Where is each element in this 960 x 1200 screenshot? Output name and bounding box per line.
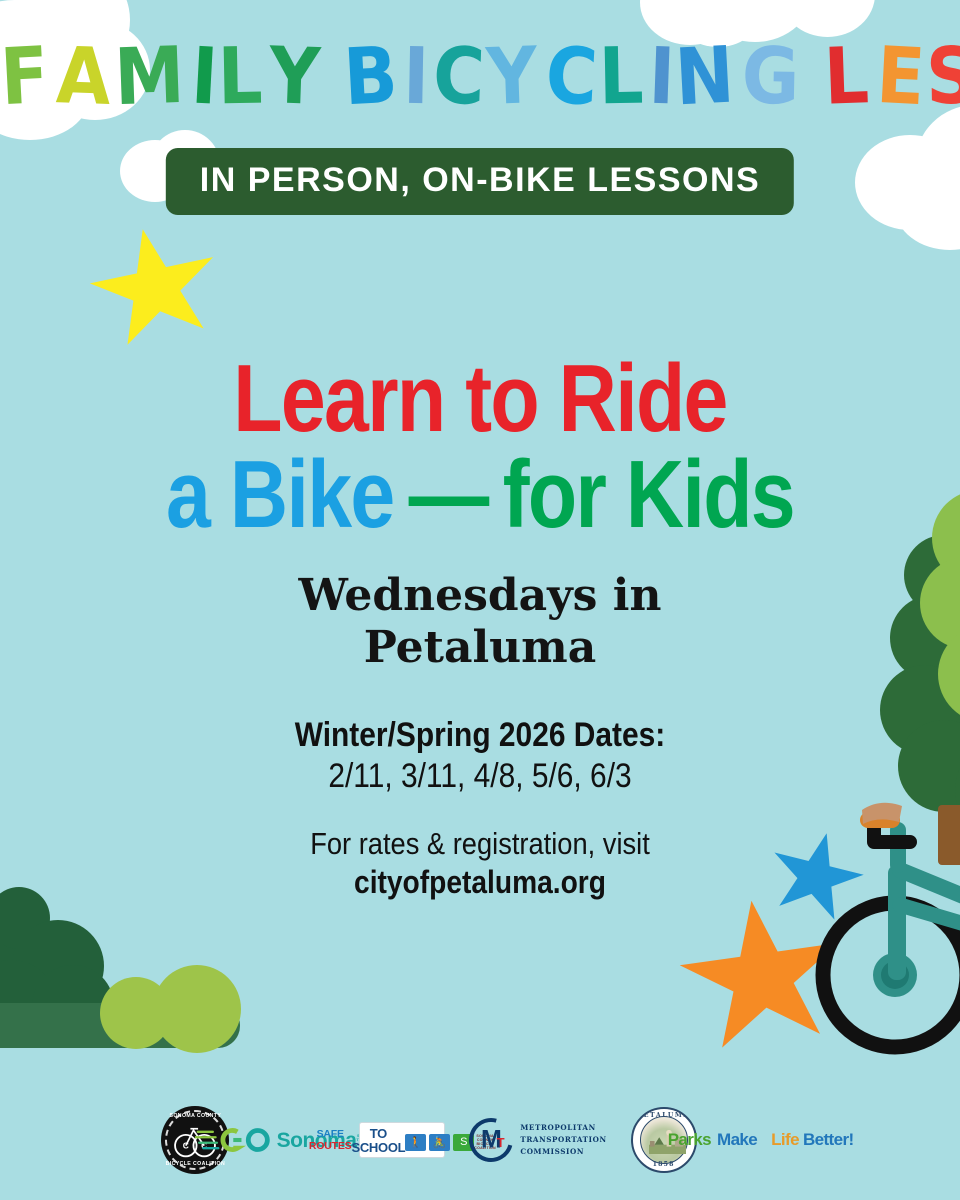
srts-routes-word: ROUTES [309,1140,352,1152]
title-letter: L [823,37,870,116]
main-copy-block: Learn to Ride a Bike—for Kids Wednesdays… [0,352,960,901]
cloud-right-upper [855,105,960,255]
srts-line-2: TO SCHOOL [351,1127,405,1154]
dates-list: 2/11, 3/11, 4/8, 5/6, 6/3 [58,757,903,796]
subtitle-banner: IN PERSON, ON-BIKE LESSONS [166,148,794,215]
subhead-line-1: Wednesdays in [0,570,960,622]
title-letter: C [432,37,485,117]
headline-learn-to-ride: Learn to Ride [233,345,726,452]
bush-lobe-light [153,965,241,1053]
registration-line: For rates & registration, visit [58,826,903,862]
headline-dash: — [409,441,488,548]
title-letter: B [341,37,398,118]
title-wordart: FAMILY BICYCLING LESSONS [0,38,960,116]
logo-parks-make-life-better: Parks Make Life Better! [721,1132,799,1148]
title-letter: A [55,37,111,117]
title-letter: L [217,38,262,117]
cyclist-icon: 🚴 [429,1134,450,1151]
mtc-line-3: COMMISSION [520,1146,606,1158]
logo-metropolitan-transportation-commission: M T METROPOLITAN TRANSPORTATION COMMISSI… [469,1118,606,1162]
title-letter: N [673,37,735,118]
mtc-wordmark: METROPOLITAN TRANSPORTATION COMMISSION [520,1122,606,1159]
registration-url[interactable]: cityofpetaluma.org [58,864,903,901]
seal-bottom-text: 1858 [633,1161,695,1168]
poster-canvas: FAMILY BICYCLING LESSONS IN PERSON, ON-B… [0,0,960,1200]
pmlb-word-parks: Parks [666,1132,711,1148]
pmlb-word-make: Make [711,1132,757,1148]
headline-line-2: a Bike—for Kids [77,448,883,542]
title-letter: Y [268,37,321,117]
bush-group-left [0,885,280,1065]
title-letter: E [874,37,925,117]
title-letter: S [925,38,960,117]
subhead-line-2: Petaluma [0,622,960,674]
title-letter: F [0,37,50,117]
title-word-gap [321,38,343,116]
go-speedlines-icon [195,1125,277,1155]
logo-safe-routes-to-school: SAFE ROUTES TO SCHOOL 🚶 🚴 S SONOMA COUNT… [359,1122,445,1158]
subhead-block: Wednesdays in Petaluma [0,570,960,674]
star-yellow [81,216,229,358]
title-letter: L [598,38,643,117]
title-letter: I [402,38,429,116]
title-letter: G [741,38,799,117]
mtc-letter-t: T [497,1135,505,1150]
srts-line-1: SAFE ROUTES [309,1129,352,1151]
title-letter: C [544,37,599,118]
title-word-gap [801,38,823,116]
pmlb-word-life: Life [757,1132,799,1148]
seal-top-text: PETALUMA [633,1112,695,1119]
mtc-line-1: METROPOLITAN [520,1122,606,1134]
mtc-line-2: TRANSPORTATION [520,1134,606,1146]
pedestrian-icon: 🚶 [405,1134,426,1151]
svg-text:C: C [183,1141,189,1151]
sponsor-logo-strip: SONOMA COUNTY BICYCLE COALITION C C [0,1106,960,1174]
title-letter: I [190,37,219,116]
headline-line-1: Learn to Ride [77,352,883,446]
title-letter: I [647,38,675,117]
headline-a-bike: a Bike [166,441,394,548]
title-letter: M [113,37,185,117]
title-letter: Y [485,37,538,117]
mtc-mark: M T [469,1118,513,1162]
dates-label: Winter/Spring 2026 Dates: [58,716,903,755]
srts-icon-tiles: 🚶 🚴 S [405,1134,474,1151]
pmlb-word-better: Better! [799,1132,854,1148]
headline-for-kids: for Kids [503,441,794,548]
go-sonoma-mark [195,1125,277,1155]
